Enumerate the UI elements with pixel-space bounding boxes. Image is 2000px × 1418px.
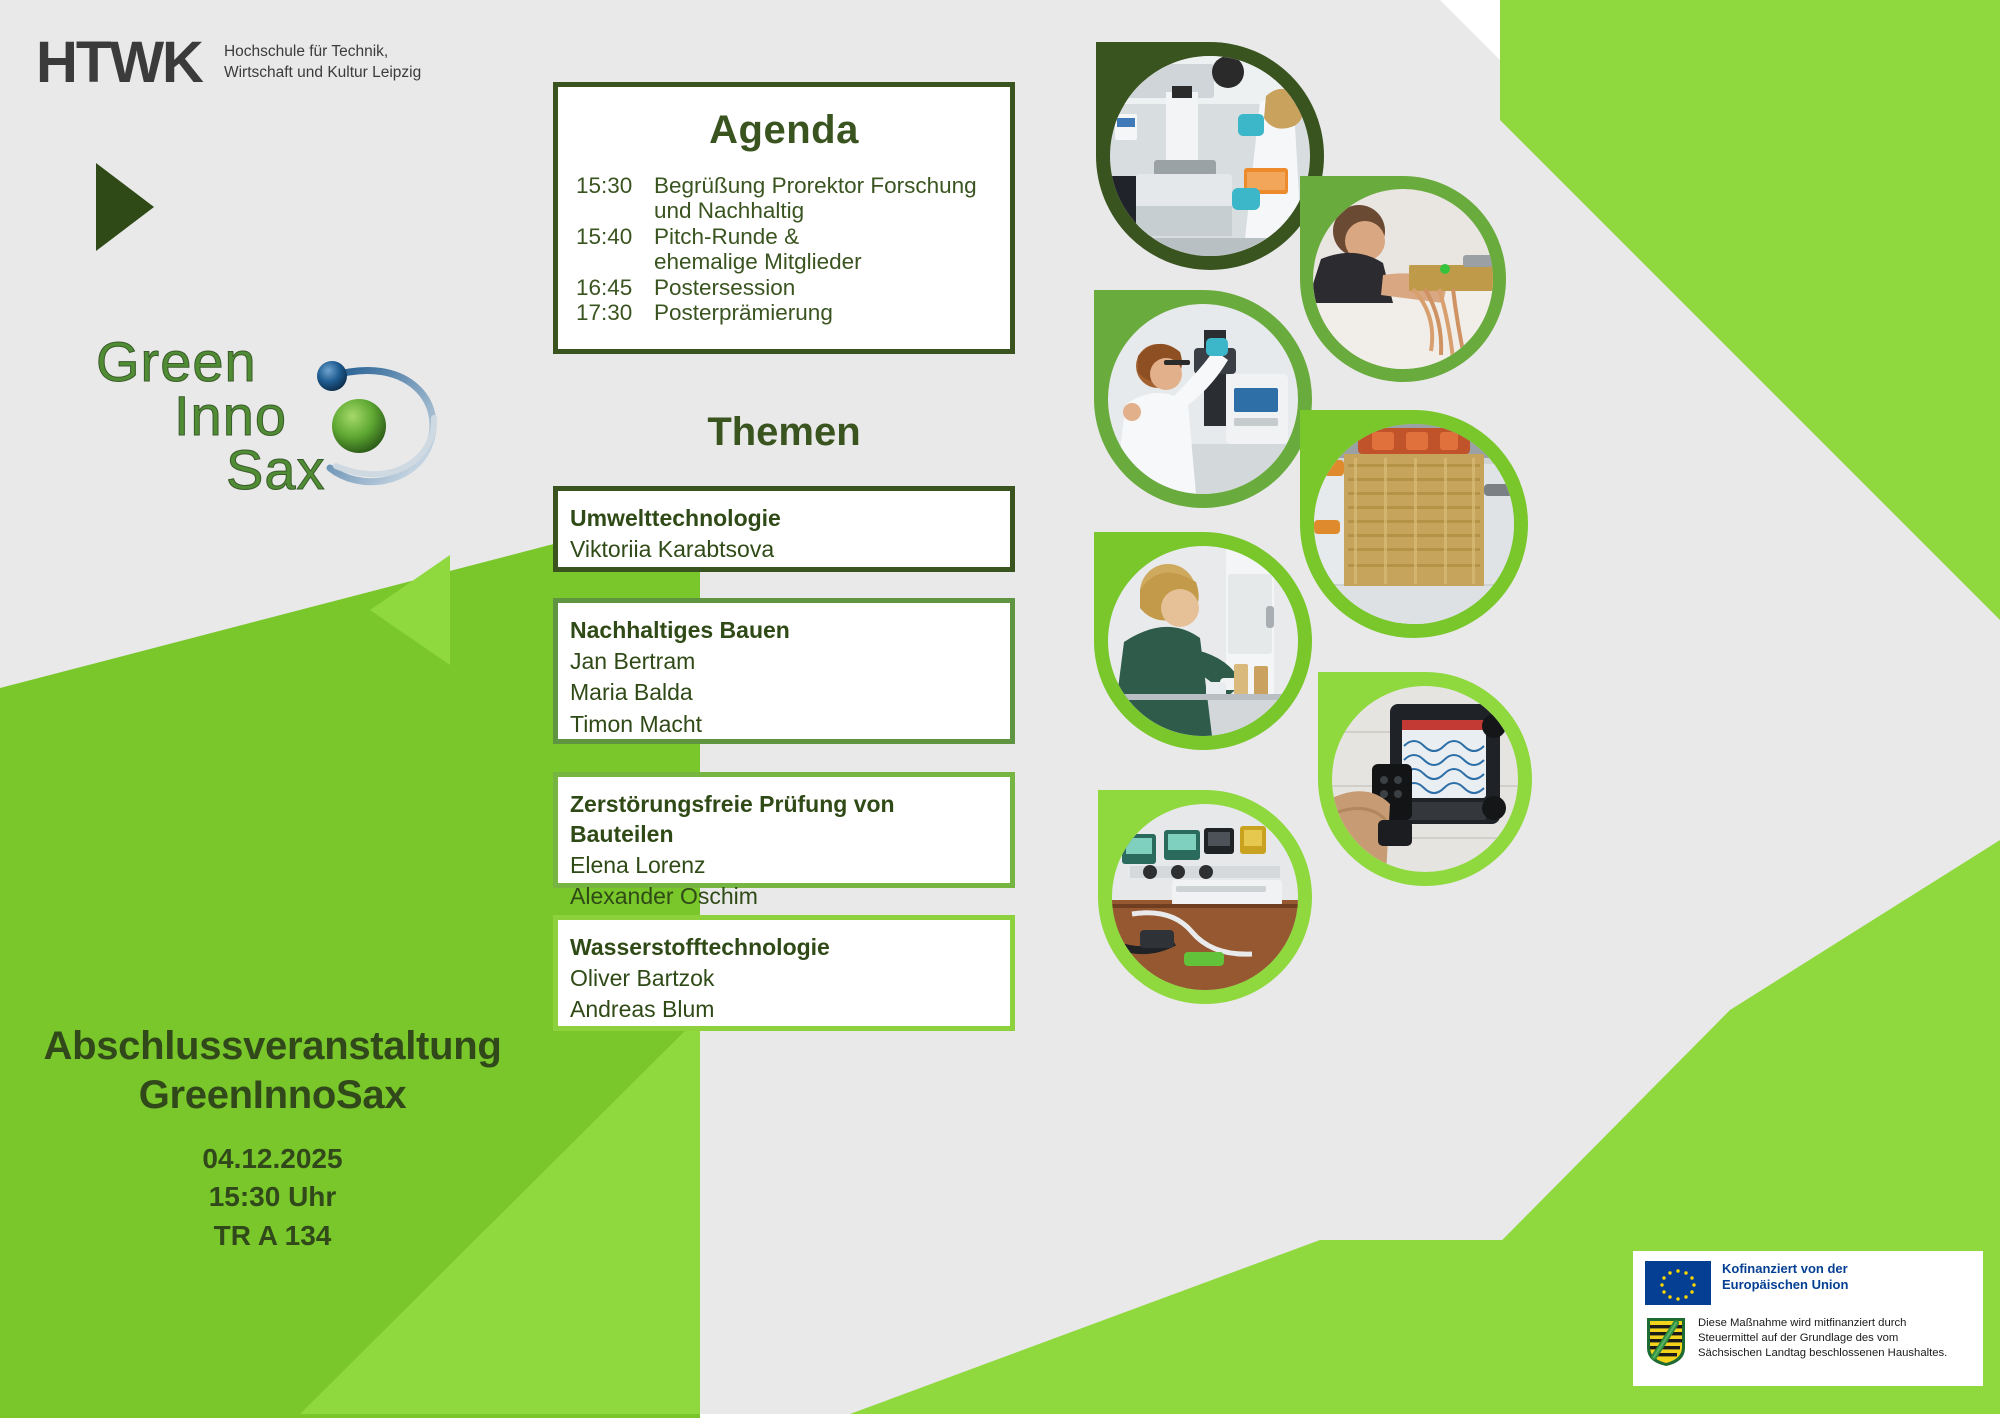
themen-box-name: Andreas Blum: [570, 994, 998, 1026]
event-date: 04.12.2025: [0, 1140, 545, 1179]
agenda-item-time: 15:40: [576, 224, 654, 249]
agenda-item: 17:30 Posterprämierung: [576, 300, 1010, 325]
funding-note-line1: Diese Maßnahme wird mitfinanziert durch: [1698, 1316, 1947, 1331]
event-details: Abschlussveranstaltung GreenInnoSax 04.1…: [0, 1022, 545, 1255]
themen-box-umwelttechnologie: Umwelttechnologie Viktoriia Karabtsova: [553, 486, 1015, 572]
eu-funding-row: Kofinanziert von der Europäischen Union: [1645, 1261, 1971, 1305]
photo-electrolysis-test-bench: [1098, 790, 1312, 1004]
photo-image: [1108, 546, 1298, 736]
funding-note: Diese Maßnahme wird mitfinanziert durch …: [1698, 1316, 1947, 1361]
agenda-item-time: 15:30: [576, 173, 654, 198]
agenda-list: 15:30 Begrüßung Prorektor Forschung und …: [558, 173, 1010, 326]
photo-image: [1112, 804, 1298, 990]
themen-box-title: Umwelttechnologie: [570, 504, 998, 534]
themen-box-title: Wasserstofftechnologie: [570, 933, 998, 963]
eu-caption-line2: Europäischen Union: [1722, 1277, 1848, 1293]
orbit-atom-icon: [296, 340, 456, 500]
event-title: Abschlussveranstaltung GreenInnoSax: [0, 1022, 545, 1120]
agenda-item-time: 16:45: [576, 275, 654, 300]
agenda-item-text: Pitch-Runde &: [654, 224, 1010, 249]
themen-box-name: Timon Macht: [570, 709, 998, 741]
photo-straw-panel-test-rig: [1300, 410, 1528, 638]
event-meta: 04.12.2025 15:30 Uhr TR A 134: [0, 1140, 545, 1256]
logo-line-green: Green: [96, 335, 257, 388]
event-title-line1: Abschlussveranstaltung: [0, 1022, 545, 1071]
themen-box-title: Nachhaltiges Bauen: [570, 616, 998, 646]
htwk-subtitle: Hochschule für Technik, Wirtschaft und K…: [224, 42, 421, 84]
funding-note-line3: Sächsischen Landtag beschlossenen Hausha…: [1698, 1346, 1947, 1361]
funding-note-line2: Steuermittel auf der Grundlage des vom: [1698, 1331, 1947, 1346]
agenda-item-text: Posterprämierung: [654, 300, 1010, 325]
eu-funding-caption: Kofinanziert von der Europäischen Union: [1722, 1261, 1848, 1294]
agenda-item-cont: und Nachhaltig: [654, 198, 1010, 223]
agenda-box: Agenda 15:30 Begrüßung Prorektor Forschu…: [553, 82, 1015, 354]
agenda-item: 16:45 Postersession: [576, 275, 1010, 300]
photo-lab-instrument-woman: [1094, 290, 1312, 508]
event-title-line2: GreenInnoSax: [0, 1071, 545, 1120]
agenda-heading: Agenda: [558, 108, 1010, 153]
htwk-subtitle-line2: Wirtschaft und Kultur Leipzig: [224, 63, 421, 84]
themen-box-name: Alexander Oschim: [570, 881, 998, 913]
themen-box-name: Maria Balda: [570, 677, 998, 709]
photo-image: [1313, 189, 1493, 369]
htwk-logo: HTWK Hochschule für Technik, Wirtschaft …: [36, 34, 421, 92]
funding-logos: Kofinanziert von der Europäischen Union: [1633, 1251, 1983, 1386]
event-time: 15:30 Uhr: [0, 1178, 545, 1217]
agenda-item-time: 17:30: [576, 300, 654, 325]
themen-box-title: Zerstörungsfreie Prüfung von Bauteilen: [570, 790, 998, 850]
agenda-item-text: Postersession: [654, 275, 1010, 300]
htwk-wordmark: HTWK: [36, 34, 202, 92]
agenda-item-text: Begrüßung Prorektor Forschung: [654, 173, 1010, 198]
saxony-funding-row: Diese Maßnahme wird mitfinanziert durch …: [1645, 1316, 1971, 1368]
event-room: TR A 134: [0, 1217, 545, 1256]
themen-box-zerstoerungsfreie-pruefung: Zerstörungsfreie Prüfung von Bauteilen E…: [553, 772, 1015, 888]
agenda-item-cont: ehemalige Mitglieder: [654, 249, 1010, 274]
agenda-item: 15:40 Pitch-Runde &: [576, 224, 1010, 249]
saxony-coat-of-arms-icon: [1645, 1316, 1687, 1368]
greeninnosax-logo: Green Inno Sax: [96, 335, 456, 535]
eu-caption-line1: Kofinanziert von der: [1722, 1261, 1848, 1277]
photo-image: [1314, 424, 1514, 624]
photo-image: [1110, 56, 1310, 256]
photo-lab-glassware-woman: [1094, 532, 1312, 750]
logo-line-inno: Inno: [174, 389, 287, 442]
themen-box-wasserstofftechnologie: Wasserstofftechnologie Oliver Bartzok An…: [553, 915, 1015, 1031]
themen-box-name: Jan Bertram: [570, 646, 998, 678]
photo-image: [1332, 686, 1518, 872]
eu-flag-icon: [1645, 1261, 1711, 1305]
themen-box-name: Oliver Bartzok: [570, 963, 998, 995]
htwk-subtitle-line1: Hochschule für Technik,: [224, 42, 421, 63]
themen-box-name: Elena Lorenz: [570, 850, 998, 882]
photo-handheld-ndt-scanner: [1318, 672, 1532, 886]
photo-image: [1108, 304, 1298, 494]
photo-lab-gc-researcher: [1096, 42, 1324, 270]
themen-heading: Themen: [553, 410, 1015, 455]
themen-box-name: Viktoriia Karabtsova: [570, 534, 998, 566]
agenda-item: 15:30 Begrüßung Prorektor Forschung: [576, 173, 1010, 198]
themen-box-nachhaltiges-bauen: Nachhaltiges Bauen Jan Bertram Maria Bal…: [553, 598, 1015, 744]
photo-student-fibre-mat: [1300, 176, 1506, 382]
